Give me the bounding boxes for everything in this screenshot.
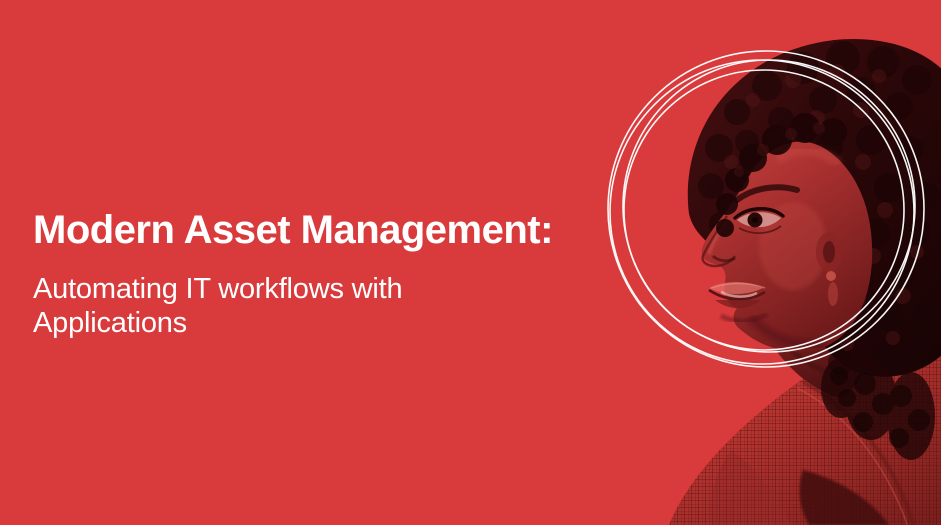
- banner-text-block: Modern Asset Management: Automating IT w…: [33, 206, 593, 340]
- portrait-photo: [541, 0, 941, 525]
- promo-banner: Modern Asset Management: Automating IT w…: [0, 0, 941, 525]
- page-title: Modern Asset Management:: [33, 206, 593, 254]
- page-subtitle: Automating IT workflows with Application…: [33, 272, 433, 340]
